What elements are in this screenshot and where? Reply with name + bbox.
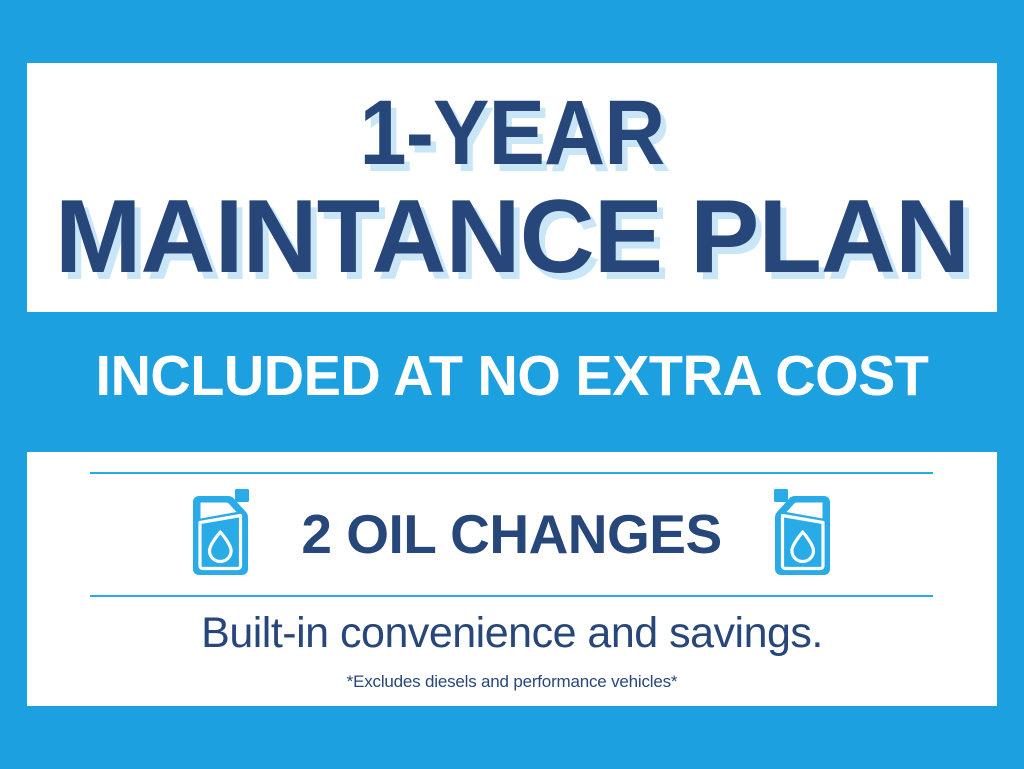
oil-jug-icon-right [766, 488, 840, 580]
divider-bottom [90, 595, 933, 597]
oil-change-label: 2 OIL CHANGES [301, 507, 721, 562]
offer-panel: 2 OIL CHANGES Built-in convenience and s… [27, 452, 997, 706]
headline-line-2: MAINTANCE PLAN [27, 185, 997, 289]
oil-jug-icon-left [183, 488, 257, 580]
fineprint-disclaimer: *Excludes diesels and performance vehicl… [27, 673, 997, 690]
headline-panel: 1-YEAR MAINTANCE PLAN [27, 63, 997, 312]
promotional-poster: 1-YEAR MAINTANCE PLAN INCLUDED AT NO EXT… [0, 0, 1024, 769]
headline-line-1: 1-YEAR [66, 87, 958, 179]
subheading: INCLUDED AT NO EXTRA COST [10, 348, 1014, 405]
tagline: Built-in convenience and savings. [27, 612, 997, 655]
oil-change-row: 2 OIL CHANGES [90, 474, 933, 594]
